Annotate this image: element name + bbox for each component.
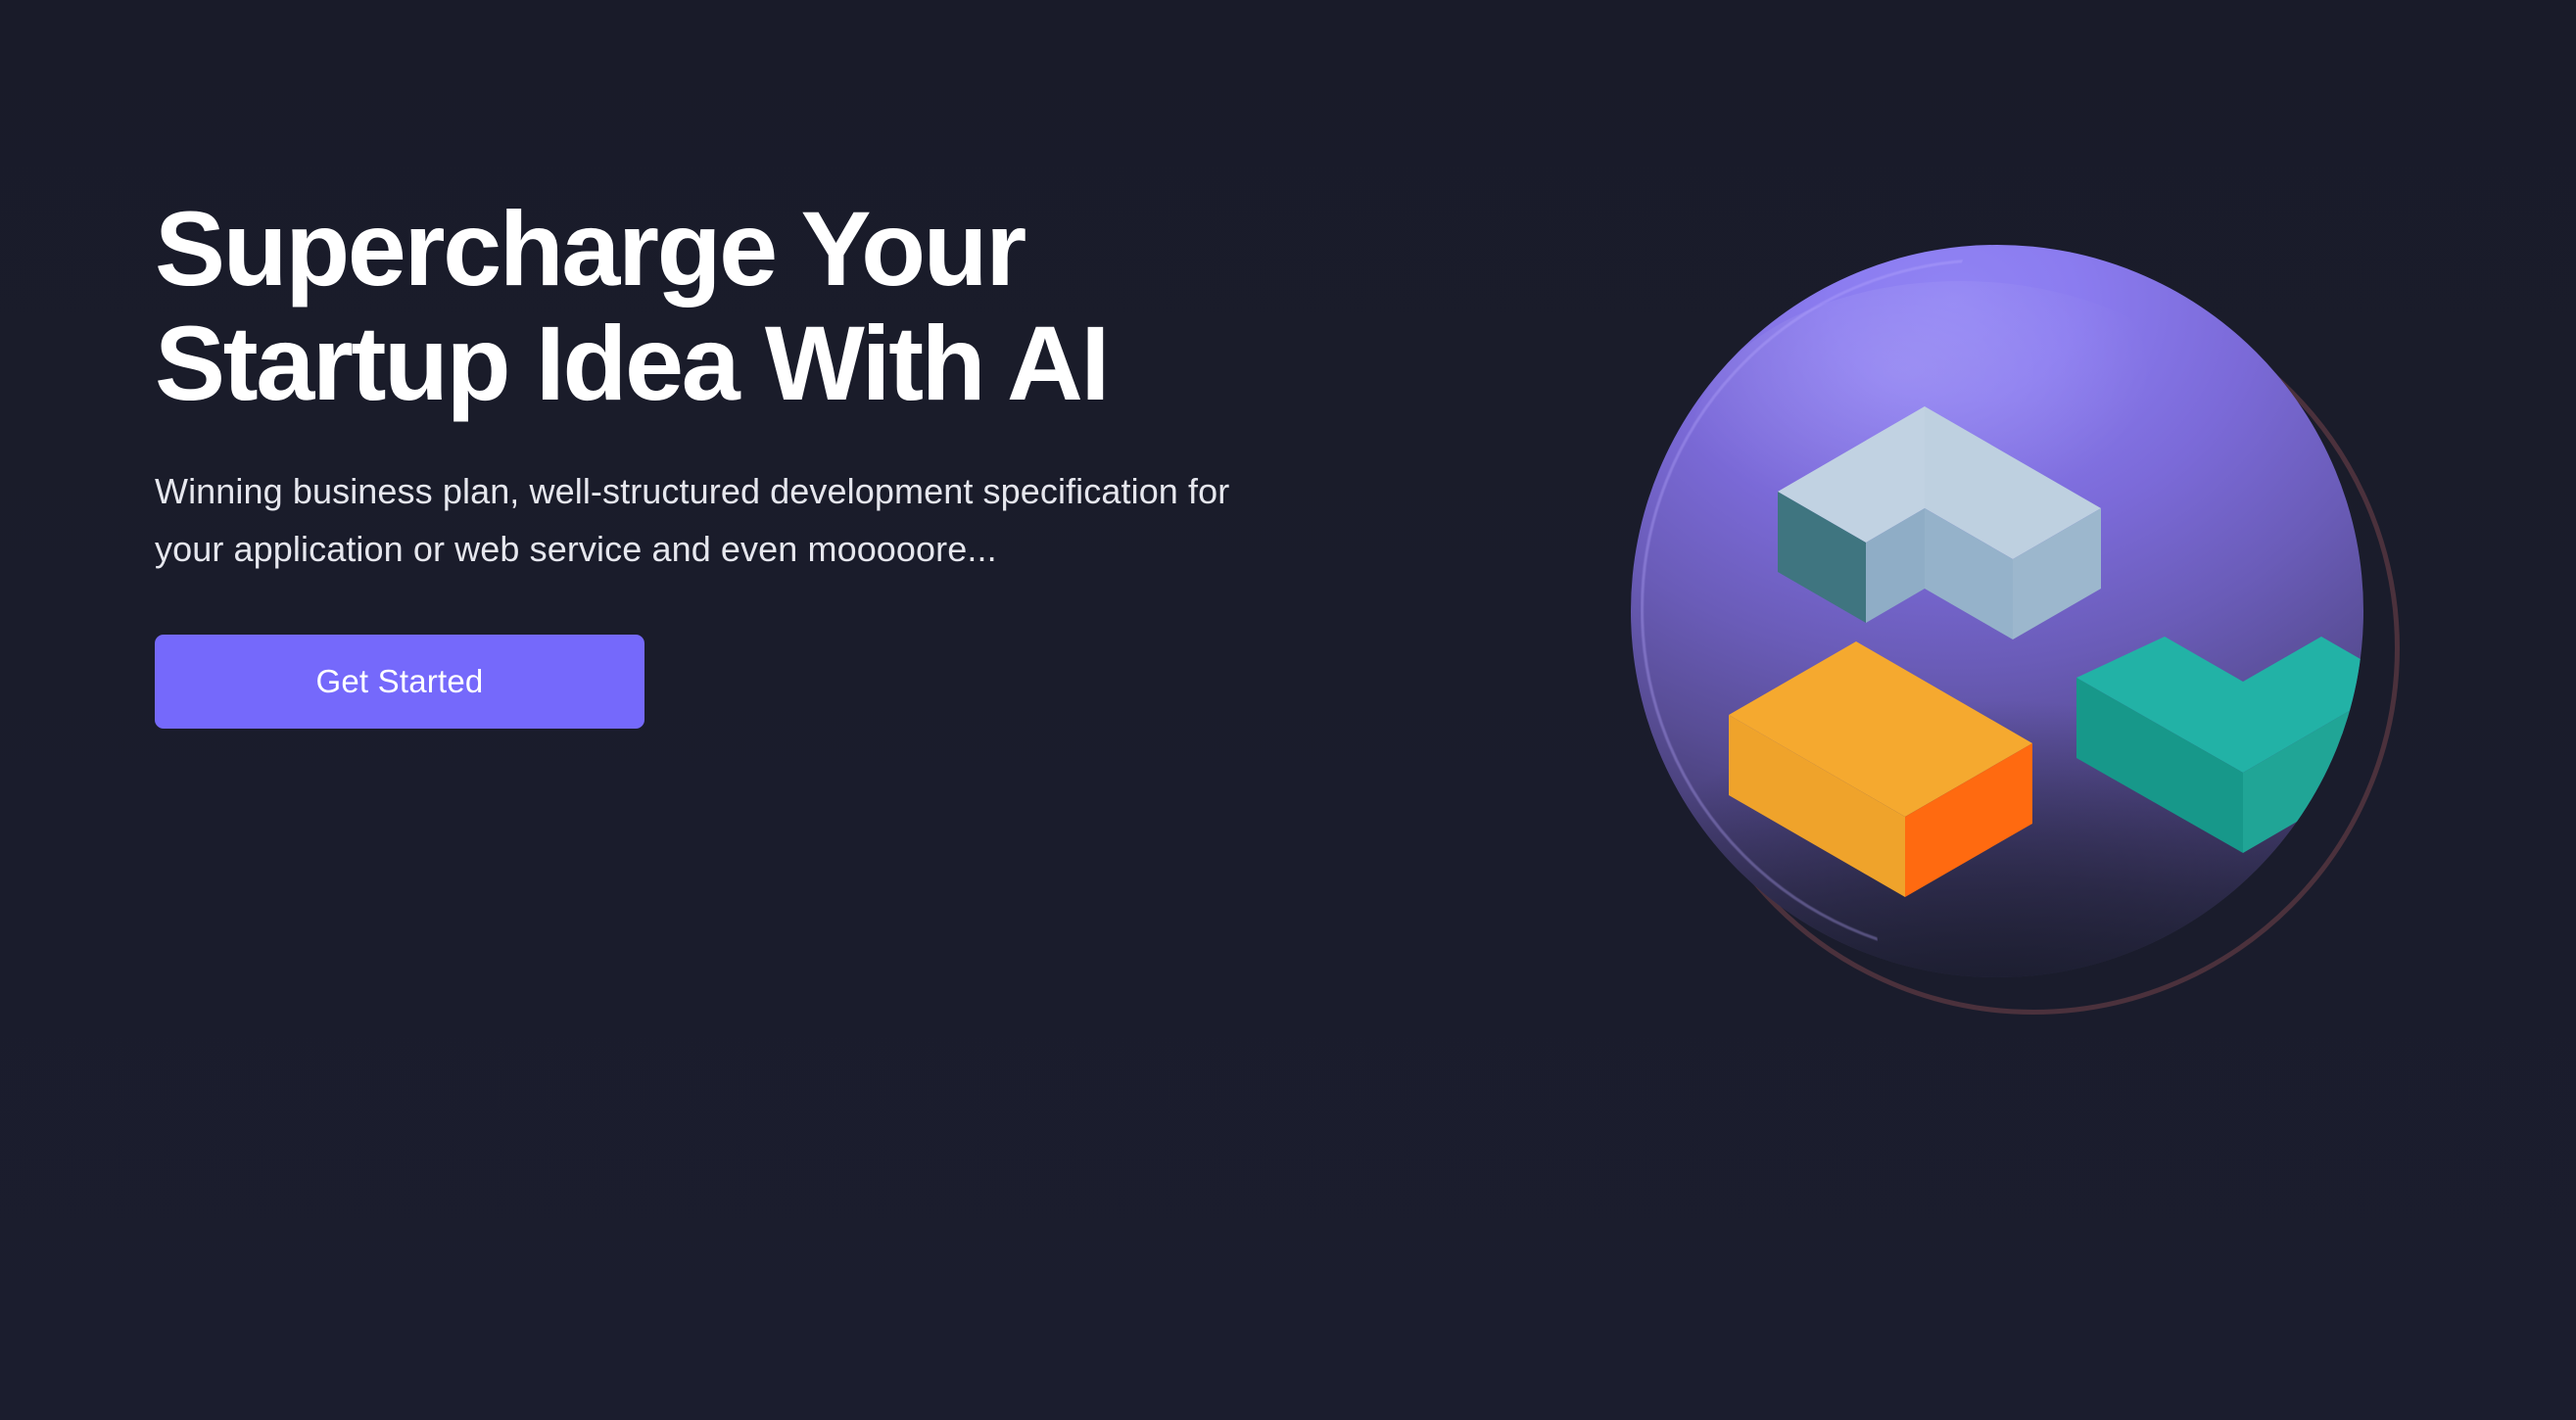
illustration-stage [1597,206,2439,1087]
cta-row: Get Started [155,635,1311,729]
hero-subtitle: Winning business plan, well-structured d… [155,463,1252,578]
hero-section: Supercharge Your Startup Idea With AI Wi… [0,0,2576,1420]
hero-illustration [1597,206,2439,1087]
get-started-button[interactable]: Get Started [155,635,644,729]
page-title: Supercharge Your Startup Idea With AI [155,192,1311,420]
hero-copy-column: Supercharge Your Startup Idea With AI Wi… [155,192,1311,729]
gradient-sphere [1631,245,2363,977]
teal-v-block-icon [2076,637,2363,921]
